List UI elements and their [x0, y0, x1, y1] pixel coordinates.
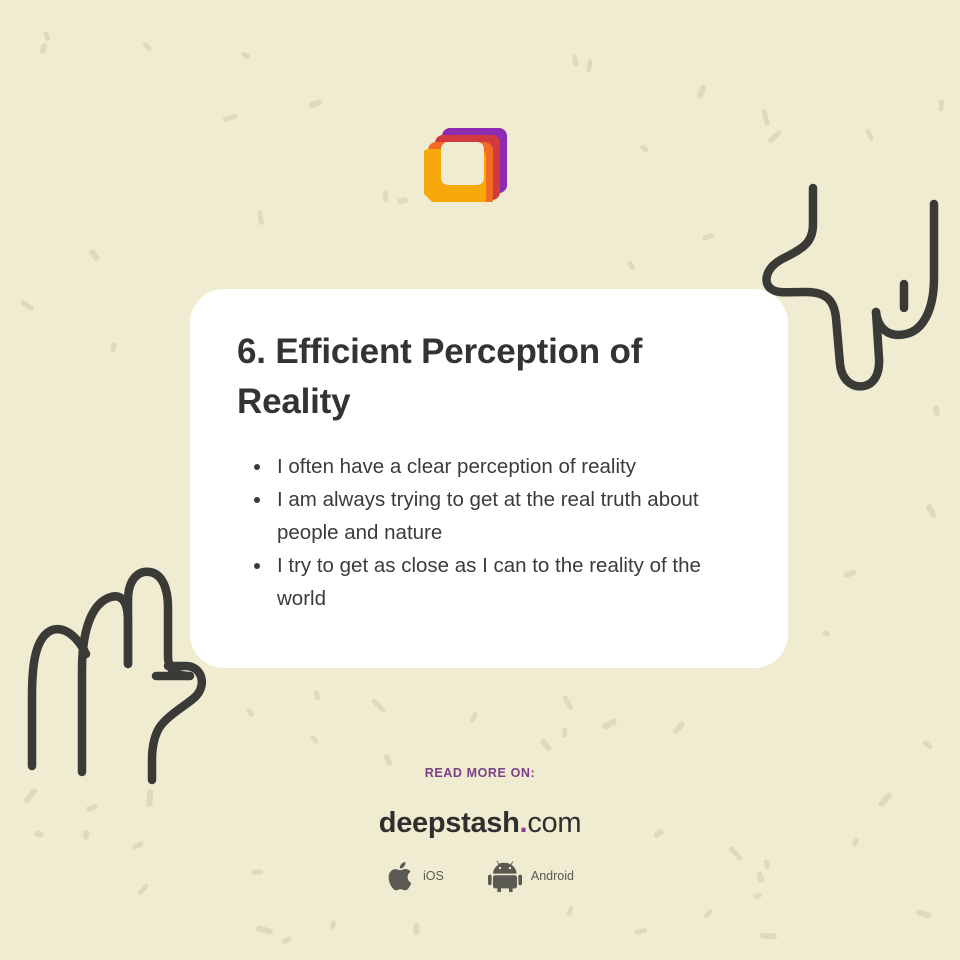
speckle — [257, 210, 264, 226]
card-bullet-item: I am always trying to get at the real tr… — [277, 483, 740, 549]
speckle — [240, 51, 251, 60]
logo-icon — [424, 98, 528, 202]
speckle — [245, 707, 255, 718]
footer: READ MORE ON: deepstash.com iOS — [0, 766, 960, 892]
speckle — [602, 718, 618, 731]
content-card: 6. Efficient Perception of Reality I oft… — [190, 289, 788, 668]
store-label-android: Android — [531, 869, 574, 883]
apple-icon — [386, 860, 414, 892]
store-badge-ios[interactable]: iOS — [386, 860, 444, 892]
speckle — [88, 248, 101, 261]
speckle — [626, 260, 636, 271]
speckle — [639, 143, 649, 153]
deepstash-logo — [424, 98, 528, 202]
card-bullet-item: I often have a clear perception of reali… — [277, 450, 740, 483]
speckle — [696, 83, 707, 99]
store-label-ios: iOS — [423, 869, 444, 883]
wordmark-tld: com — [527, 807, 581, 839]
speckle — [314, 690, 321, 701]
speckle — [371, 698, 386, 714]
speckle — [633, 927, 647, 935]
card-bullet-item: I try to get as close as I can to the re… — [277, 549, 740, 615]
card-title: 6. Efficient Perception of Reality — [237, 327, 740, 426]
speckle — [310, 734, 320, 744]
speckle — [414, 922, 420, 935]
speckle — [843, 569, 857, 578]
speckle — [142, 41, 153, 52]
wordmark-brand: deepstash — [379, 807, 520, 839]
speckle — [469, 711, 479, 723]
speckle — [222, 113, 237, 122]
speckle — [566, 905, 574, 916]
store-badge-android[interactable]: Android — [488, 860, 574, 892]
speckle — [938, 99, 944, 112]
speckle — [703, 908, 714, 919]
speckle — [586, 58, 593, 71]
speckle — [821, 630, 830, 637]
speckle — [255, 925, 273, 935]
speckle — [330, 920, 336, 929]
speckle — [43, 31, 51, 42]
speckle — [864, 128, 874, 142]
speckle — [40, 43, 49, 55]
speckle — [562, 728, 568, 738]
speckle — [925, 503, 937, 519]
pointing-hand-left-icon — [18, 558, 218, 790]
speckle — [382, 753, 392, 766]
speckle — [702, 232, 715, 241]
card-bullet-list: I often have a clear perception of reali… — [237, 450, 740, 615]
speckle — [20, 299, 35, 311]
speckle — [396, 197, 408, 205]
speckle — [916, 909, 933, 919]
speckle — [540, 737, 553, 752]
speckle — [934, 405, 940, 417]
speckle — [110, 343, 116, 353]
speckle — [752, 892, 762, 900]
speckle — [768, 129, 783, 143]
speckle — [761, 109, 770, 127]
store-badges: iOS Android — [0, 860, 960, 892]
read-more-label: READ MORE ON: — [0, 766, 960, 780]
deepstash-wordmark[interactable]: deepstash.com — [0, 809, 960, 838]
speckle — [309, 99, 324, 109]
speckle — [671, 720, 685, 735]
poster-canvas: 6. Efficient Perception of Reality I oft… — [0, 0, 960, 960]
speckle — [280, 936, 292, 945]
android-icon — [488, 860, 522, 892]
speckle — [760, 933, 778, 940]
speckle — [571, 54, 578, 67]
speckle — [383, 190, 389, 202]
speckle — [561, 695, 573, 711]
speckle — [922, 739, 933, 750]
